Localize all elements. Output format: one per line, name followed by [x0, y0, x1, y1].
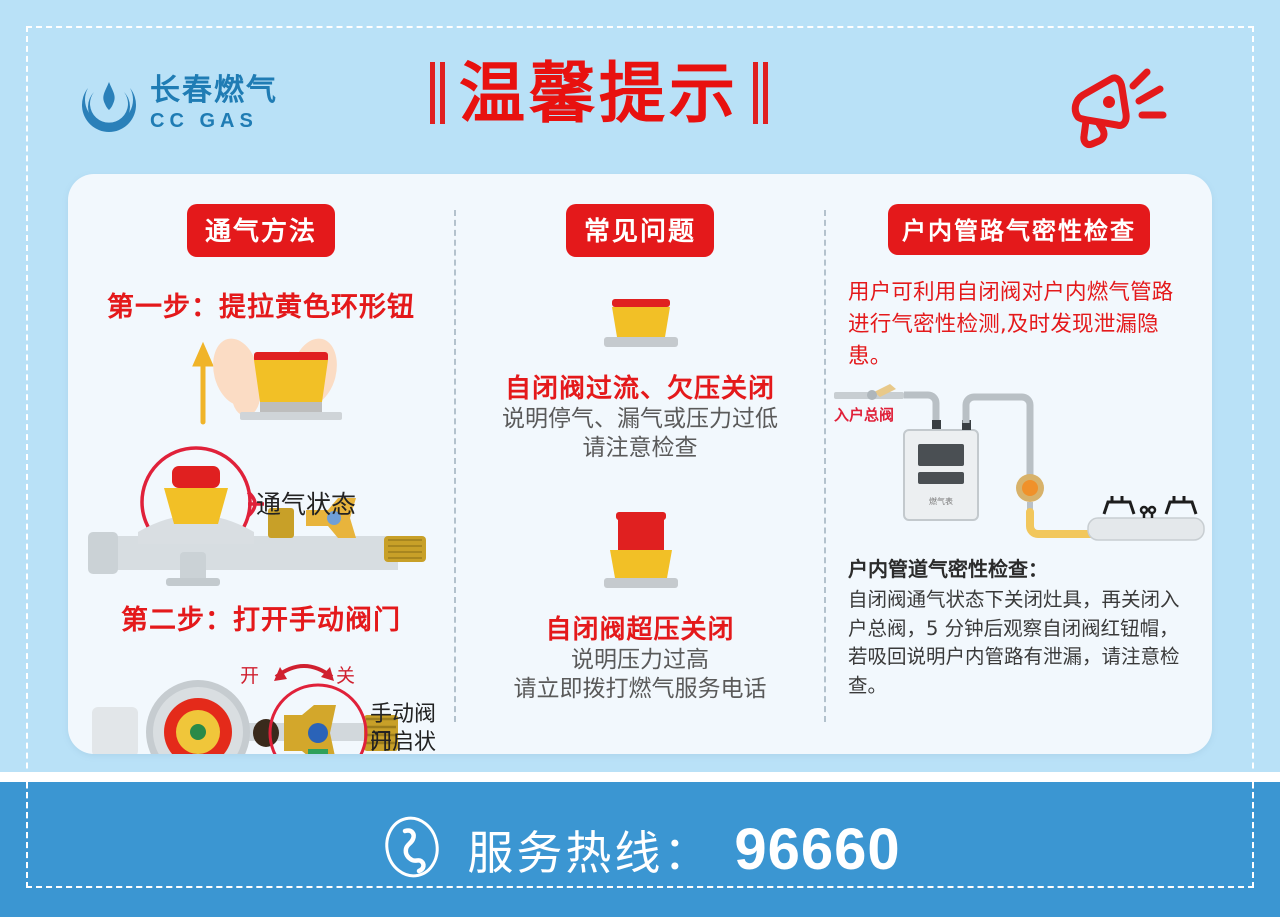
megaphone-icon: [1063, 62, 1183, 162]
airtightness-intro-text: 用户可利用自闭阀对户内燃气管路进行气密性检测,及时发现泄漏隐患。: [848, 277, 1190, 372]
footer-separator: [0, 772, 1280, 782]
poster-root: 长春燃气 CC GAS 温馨提示: [0, 0, 1280, 917]
faq-item-1-headline: 自闭阀过流、欠压关闭: [456, 368, 824, 405]
manual-valve-regulator-icon: 开 关 手动阀门 开启状态: [68, 645, 454, 754]
hotline-number: 96660: [734, 816, 900, 883]
title-bars-right-icon: [753, 62, 768, 124]
step-1-title: 第一步：提拉黄色环形钮: [68, 285, 454, 324]
brand-logo: 长春燃气 CC GAS: [78, 72, 278, 134]
column-faq: 常见问题 自闭阀过流、欠压关闭 说明停气、漏气或压力过低 请注意检查: [456, 174, 824, 754]
page-title-text: 温馨提示: [459, 60, 739, 126]
callout-ventilation-state: 通气状态: [256, 485, 356, 521]
faq-item-1-line-1: 说明停气、漏气或压力过低: [456, 405, 824, 434]
badge-ventilation-method: 通气方法: [187, 204, 335, 257]
airtightness-section-title: 户内管道气密性检查：: [848, 553, 1190, 582]
page-title: 温馨提示: [430, 60, 768, 126]
brand-name-en: CC GAS: [150, 111, 278, 131]
faq-item-2-headline: 自闭阀超压关闭: [456, 609, 824, 646]
brand-name-cn: 长春燃气: [150, 76, 278, 106]
step-2-title: 第二步：打开手动阀门: [68, 598, 454, 637]
indoor-gas-pipeline-diagram-icon: 燃气表: [826, 378, 1212, 543]
svg-text:燃气表: 燃气表: [929, 496, 953, 506]
hotline-label: 服务热线：: [467, 817, 712, 883]
valve-button-red-popped-icon: [580, 583, 700, 600]
title-bars-left-icon: [430, 62, 445, 124]
hand-pulling-yellow-ring-button-icon: [68, 330, 454, 440]
column-ventilation-method: 通气方法 第一步：提拉黄色环形钮: [68, 174, 454, 754]
content-card: 通气方法 第一步：提拉黄色环形钮: [68, 174, 1212, 754]
footer-hotline-bar: 服务热线： 96660: [0, 782, 1280, 917]
badge-airtightness-check: 户内管路气密性检查: [888, 204, 1150, 255]
gas-flame-crescent-logo-icon: [78, 72, 140, 134]
poster-header: 长春燃气 CC GAS 温馨提示: [0, 0, 1280, 175]
telephone-icon: [379, 814, 445, 885]
faq-item-1: 自闭阀过流、欠压关闭 说明停气、漏气或压力过低 请注意检查: [456, 295, 824, 464]
faq-item-2: 自闭阀超压关闭 说明压力过高 请立即拨打燃气服务电话: [456, 506, 824, 705]
airtightness-body-text: 自闭阀通气状态下关闭灶具，再关闭入户总阀，5 分钟后观察自闭阀红钮帽，若吸回说明…: [848, 586, 1190, 700]
label-valve-close: 关: [336, 661, 355, 688]
label-main-inlet-valve: 入户总阀: [834, 404, 894, 425]
badge-faq: 常见问题: [566, 204, 714, 257]
faq-item-2-line-2: 请立即拨打燃气服务电话: [456, 675, 824, 704]
faq-item-1-line-2: 请注意检查: [456, 434, 824, 463]
faq-item-2-line-1: 说明压力过高: [456, 646, 824, 675]
valve-button-yellow-low-icon: [580, 342, 700, 359]
callout-manual-valve-line2: 开启状态: [370, 729, 454, 754]
self-closing-valve-device-icon: 通气状态: [68, 440, 454, 590]
column-airtightness-check: 户内管路气密性检查 用户可利用自闭阀对户内燃气管路进行气密性检测,及时发现泄漏隐…: [826, 174, 1212, 754]
label-valve-open: 开: [240, 661, 259, 688]
